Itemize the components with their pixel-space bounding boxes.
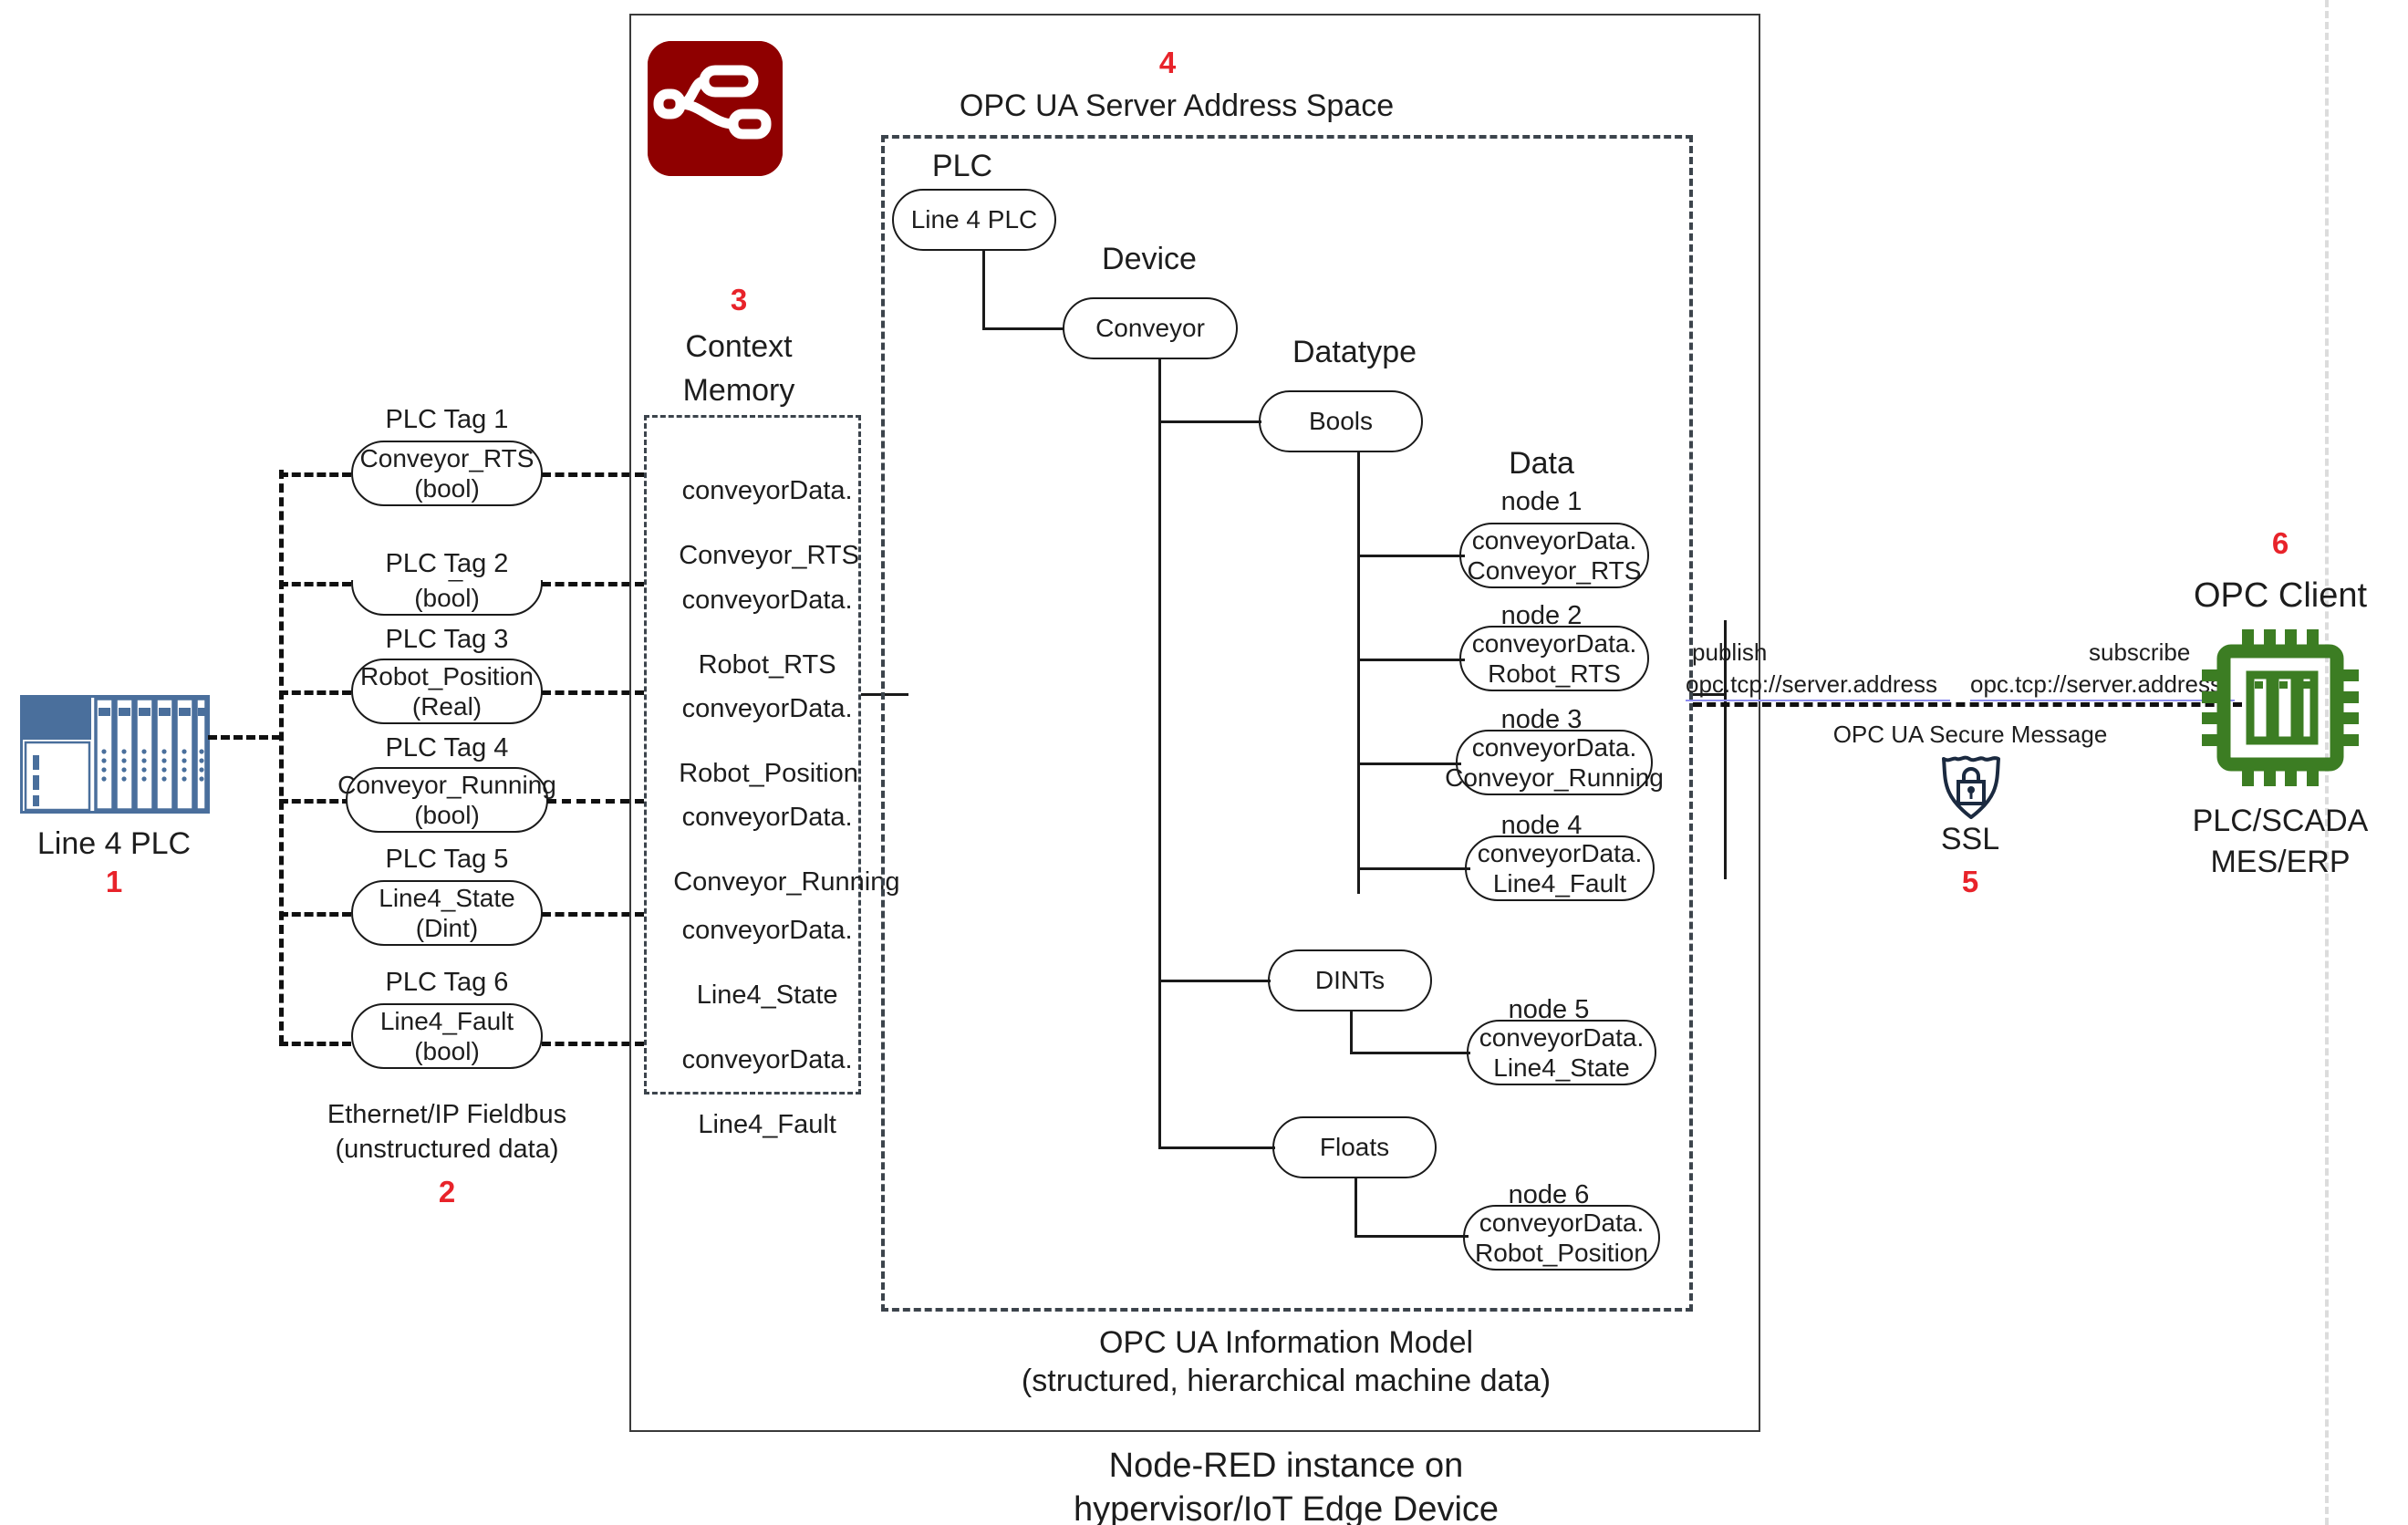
addressspace-datatype-node[interactable]: Floats <box>1272 1116 1437 1178</box>
publish-label: publish <box>1692 638 1847 668</box>
level-label-device: Device <box>1067 241 1231 278</box>
addressspace-plc-node-label: Line 4 PLC <box>911 206 1038 234</box>
data-node-name: Conveyor_Running <box>1445 763 1664 792</box>
addressspace-datatype-node[interactable]: DINTs <box>1268 949 1432 1011</box>
fieldbus-branch-5 <box>279 912 351 917</box>
information-model-line2: (structured, hierarchical machine data) <box>876 1363 1697 1400</box>
diagram-canvas: Line 4 PLC 1 PLC Tag 1 Conveyor_RTS (boo… <box>0 0 2408 1525</box>
data-node-prefix: conveyorData. <box>1479 1209 1645 1237</box>
cpu-chip-icon <box>2200 628 2361 788</box>
plc-tag-pill[interactable]: Conveyor_RTS (bool) <box>351 441 543 506</box>
fieldbus-branch-3 <box>279 690 351 695</box>
addressspace-datatype-label: Bools <box>1309 408 1373 436</box>
opc-client-sub-line1: PLC/SCADA <box>2162 803 2399 840</box>
context-entry-prefix: conveyorData. <box>682 803 853 832</box>
data-node-name: Robot_Position <box>1475 1239 1648 1267</box>
addressspace-datatype-label: DINTs <box>1315 967 1385 995</box>
context-entry: conveyorData. Line4_Fault <box>649 1012 856 1174</box>
plc-tag-type: (bool) <box>414 801 480 829</box>
data-node-pill[interactable]: conveyorData. Conveyor_RTS <box>1459 523 1649 588</box>
addressspace-device-node[interactable]: Conveyor <box>1063 297 1238 359</box>
tree-edge-device-floats <box>1158 1146 1275 1149</box>
plc-tag-caption: PLC Tag 1 <box>351 404 543 436</box>
marker-1: 1 <box>0 865 228 899</box>
subscribe-url: opc.tcp://server.address <box>1970 670 2235 701</box>
marker-6: 6 <box>2189 526 2372 561</box>
marker-3: 3 <box>638 283 839 317</box>
tree-edge-dints-node5 <box>1350 1052 1470 1054</box>
context-entry-name: Line4_State <box>697 980 838 1010</box>
data-node-prefix: conveyorData. <box>1479 1023 1645 1052</box>
data-node-pill[interactable]: conveyorData. Robot_RTS <box>1459 626 1649 691</box>
plc-tag-pill[interactable]: Robot_Position (Real) <box>351 659 543 724</box>
plc-tag-type: (Real) <box>412 692 482 721</box>
fieldbus-spine <box>279 470 284 1044</box>
plc-tag-caption-4: PLC Tag 4 <box>351 732 543 764</box>
tree-edge-bools-node1 <box>1357 555 1465 557</box>
level-label-plc: PLC <box>903 148 1022 185</box>
data-node-name: Conveyor_RTS <box>1468 556 1642 585</box>
data-node-prefix: conveyorData. <box>1472 526 1637 555</box>
data-node-pill[interactable]: conveyorData. Conveyor_Running <box>1456 730 1653 795</box>
ssl-label: SSL <box>1879 821 2061 858</box>
tree-edge-floats-node6 <box>1354 1235 1469 1238</box>
plc-rack-icon <box>20 695 210 814</box>
addressspace-plc-node[interactable]: Line 4 PLC <box>892 189 1056 251</box>
data-node-prefix: conveyorData. <box>1472 629 1637 658</box>
plc-tag-type: (bool) <box>414 584 480 612</box>
fieldbus-branch-1 <box>279 472 351 477</box>
tree-edge-bools-node2 <box>1357 659 1465 661</box>
secure-transport-line <box>1693 702 2242 707</box>
fieldbus-branch-2 <box>279 582 351 586</box>
data-node-prefix: conveyorData. <box>1472 733 1637 762</box>
fieldbus-label-line1: Ethernet/IP Fieldbus <box>265 1099 629 1131</box>
context-memory-title-line1: Context <box>638 328 839 366</box>
context-entry-prefix: conveyorData. <box>682 476 853 505</box>
tree-edge-floats-v <box>1354 1177 1357 1237</box>
plc-tag-caption-2: PLC Tag 2 <box>351 548 543 580</box>
address-space-title: OPC UA Server Address Space <box>867 88 1487 125</box>
plc-tag-pill[interactable]: Line4_Fault (bool) <box>351 1003 543 1069</box>
context-memory-title-line2: Memory <box>638 372 839 410</box>
plc-tag-name: Line4_Fault <box>380 1007 514 1035</box>
fieldbus-label-line2: (unstructured data) <box>265 1134 629 1166</box>
addressspace-datatype-node[interactable]: Bools <box>1259 390 1423 452</box>
plc-tag-name: Line4_State <box>379 884 514 912</box>
opc-client-title: OPC Client <box>2162 575 2399 617</box>
marker-5: 5 <box>1879 865 2061 899</box>
context-entry-prefix: conveyorData. <box>682 1045 853 1074</box>
plc-tag-caption-5: PLC Tag 5 <box>351 844 543 876</box>
plc-tag-pill[interactable]: Line4_State (Dint) <box>351 880 543 946</box>
edge-device-line2: hypervisor/IoT Edge Device <box>876 1489 1697 1525</box>
data-node-name: Line4_State <box>1493 1053 1629 1082</box>
tree-edge-device-spine <box>1158 358 1161 1148</box>
publish-url: opc.tcp://server.address <box>1686 670 1950 701</box>
secure-message-label: OPC UA Secure Message <box>1824 721 2116 750</box>
tree-edge-bools-node3 <box>1357 762 1461 765</box>
context-entry-prefix: conveyorData. <box>682 916 853 945</box>
context-entry-prefix: conveyorData. <box>682 586 853 615</box>
context-entry-prefix: conveyorData. <box>682 694 853 723</box>
plc-tag-type: (Dint) <box>416 914 478 942</box>
data-node-name: Robot_RTS <box>1488 659 1621 688</box>
shield-lock-icon <box>1938 748 2004 823</box>
data-node-pill[interactable]: conveyorData. Line4_State <box>1467 1020 1656 1085</box>
tree-edge-bools-spine <box>1357 451 1360 894</box>
level-label-data: Data <box>1450 445 1633 482</box>
information-model-line1: OPC UA Information Model <box>876 1324 1697 1362</box>
plc-source-label: Line 4 PLC <box>0 825 228 863</box>
plc-tag-name: Conveyor_Running <box>337 771 556 799</box>
data-node-caption: node 1 <box>1459 486 1624 518</box>
tree-edge-plc-device-h <box>982 327 1064 330</box>
tree-edge-device-bools <box>1158 420 1261 423</box>
data-node-name: Line4_Fault <box>1493 869 1626 897</box>
addressspace-datatype-label: Floats <box>1320 1134 1389 1162</box>
marker-2: 2 <box>265 1175 629 1209</box>
plc-tag-type: (bool) <box>414 1037 480 1065</box>
data-node-prefix: conveyorData. <box>1478 839 1643 867</box>
fieldbus-branch-6 <box>279 1042 351 1046</box>
plc-tag-pill[interactable]: Conveyor_Running (bool) <box>346 767 548 833</box>
opc-client-sub-line2: MES/ERP <box>2162 844 2399 881</box>
tree-edge-bools-node4 <box>1357 867 1470 870</box>
node-red-logo <box>648 41 783 176</box>
plc-to-fieldbus-line <box>208 735 281 740</box>
data-node-pill[interactable]: conveyorData. Robot_Position <box>1463 1205 1660 1271</box>
marker-4: 4 <box>1095 46 1240 80</box>
plc-tag-caption-3: PLC Tag 3 <box>351 624 543 656</box>
plc-tag-type: (bool) <box>414 474 480 503</box>
context-entry-name: Line4_Fault <box>698 1110 836 1139</box>
tree-edge-dints-v <box>1350 1010 1353 1053</box>
tree-edge-plc-device-v <box>982 250 985 329</box>
tree-edge-device-dints <box>1158 980 1271 982</box>
addressspace-device-node-label: Conveyor <box>1095 315 1205 343</box>
plc-tag-name: Conveyor_RTS <box>360 444 535 472</box>
edge-device-line1: Node-RED instance on <box>876 1445 1697 1487</box>
level-label-datatype: Datatype <box>1254 334 1455 371</box>
data-node-pill[interactable]: conveyorData. Line4_Fault <box>1465 835 1655 901</box>
plc-tag-name: Robot_Position <box>360 662 534 690</box>
plc-tag-caption-6: PLC Tag 6 <box>351 967 543 999</box>
